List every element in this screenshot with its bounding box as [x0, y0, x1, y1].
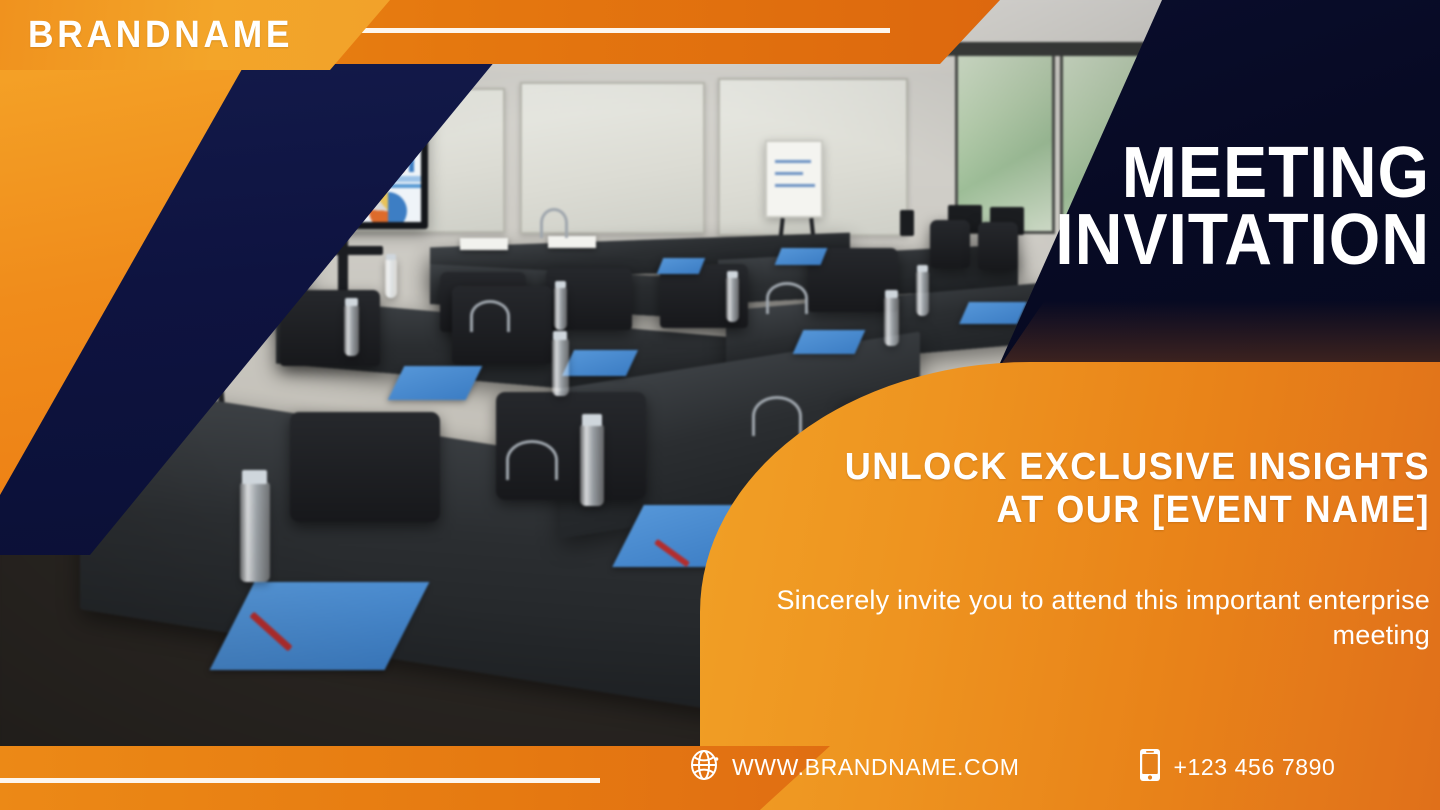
phone-contact[interactable]: +123 456 7890 — [1139, 748, 1335, 787]
headline-line-1: UNLOCK EXCLUSIVE INSIGHTS — [832, 446, 1431, 489]
mobile-phone-icon — [1139, 748, 1161, 787]
bottom-bar-rule — [0, 778, 600, 783]
title-line-2: INVITATION — [1034, 207, 1430, 274]
footer-contacts: WWW.BRANDNAME.COM +123 456 7890 — [690, 748, 1335, 787]
website-contact[interactable]: WWW.BRANDNAME.COM — [690, 749, 1019, 786]
globe-icon — [690, 749, 720, 786]
top-banner-rule — [345, 28, 890, 33]
meeting-invitation-poster: BRANDNAME MEETING INVITATION UNLOCK EXCL… — [0, 0, 1440, 810]
brand-tab: BRANDNAME — [0, 0, 390, 70]
poster-headline: UNLOCK EXCLUSIVE INSIGHTS AT OUR [EVENT … — [800, 446, 1430, 531]
phone-label: +123 456 7890 — [1173, 754, 1335, 781]
website-label: WWW.BRANDNAME.COM — [732, 754, 1019, 781]
title-line-1: MEETING — [1034, 140, 1430, 207]
poster-subtitle: Sincerely invite you to attend this impo… — [760, 583, 1430, 652]
headline-line-2: AT OUR [EVENT NAME] — [832, 489, 1431, 532]
poster-title: MEETING INVITATION — [1000, 140, 1430, 274]
brand-name: BRANDNAME — [28, 14, 293, 57]
